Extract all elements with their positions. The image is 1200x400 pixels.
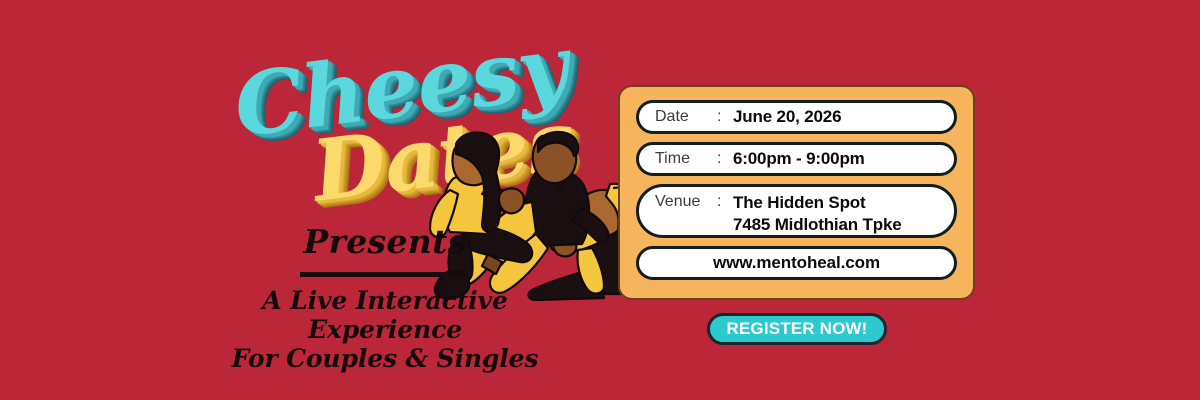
info-value-time: 6:00pm - 9:00pm <box>733 149 865 169</box>
info-value-venue-line-1: The Hidden Spot <box>733 193 866 212</box>
tagline-line-2: For Couples & Singles <box>232 344 539 373</box>
event-banner: Cheesy Dates Presents A Live Interactive… <box>0 0 1200 400</box>
tagline: A Live Interactive Experience For Couple… <box>190 286 580 373</box>
presents-divider <box>300 272 466 277</box>
info-row-date: Date : June 20, 2026 <box>636 100 957 134</box>
event-info-card: Date : June 20, 2026 Time : 6:00pm - 9:0… <box>618 85 975 300</box>
info-row-time: Time : 6:00pm - 9:00pm <box>636 142 957 176</box>
info-row-venue: Venue : The Hidden Spot 7485 Midlothian … <box>636 184 957 238</box>
info-label-date: Date <box>655 108 717 126</box>
info-colon-venue: : <box>717 193 733 211</box>
info-colon-date: : <box>717 108 733 126</box>
tagline-line-1: A Live Interactive Experience <box>262 286 507 344</box>
info-row-website[interactable]: www.mentoheal.com <box>636 246 957 280</box>
info-colon-time: : <box>717 150 733 168</box>
website-url[interactable]: www.mentoheal.com <box>713 253 880 273</box>
info-label-venue: Venue <box>655 193 717 211</box>
info-label-time: Time <box>655 150 717 168</box>
register-now-button[interactable]: REGISTER NOW! <box>707 313 887 345</box>
info-value-venue: The Hidden Spot 7485 Midlothian Tpke <box>733 193 902 235</box>
info-value-date: June 20, 2026 <box>733 107 841 127</box>
presents-label: Presents <box>300 222 470 261</box>
info-value-venue-line-2: 7485 Midlothian Tpke <box>733 215 902 235</box>
